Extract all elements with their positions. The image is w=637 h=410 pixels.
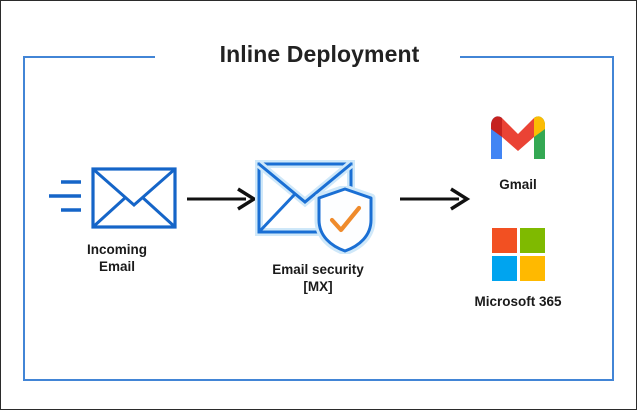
node-email-security: Email security [MX] [247,158,389,295]
node-email-security-label: Email security [MX] [247,261,389,295]
speed-lines-icon [47,175,91,219]
ms-square-bottom-left [492,256,517,281]
microsoft-logo-wrap [437,223,599,285]
microsoft-logo-icon [492,228,545,281]
ms-square-top-left [492,228,517,253]
shield-check-icon [313,186,377,254]
ms-square-bottom-right [520,256,545,281]
incoming-email-icon-wrap [41,163,193,233]
gmail-logo-wrap [453,106,583,168]
gmail-logo-icon [487,113,549,161]
node-gmail-label: Gmail [453,176,583,193]
node-gmail: Gmail [453,106,583,193]
ms-square-top-right [520,228,545,253]
envelope-outline-icon [91,167,177,229]
frame-bottom-edge [23,379,614,381]
frame-right-edge [612,56,614,381]
diagram-canvas: Inline Deployment Incoming Email [0,0,637,410]
email-security-icon-wrap [247,158,389,253]
diagram-title: Inline Deployment [1,41,637,68]
node-microsoft-365-label: Microsoft 365 [437,293,599,310]
node-incoming-email-label: Incoming Email [41,241,193,275]
node-incoming-email: Incoming Email [41,163,193,275]
node-microsoft-365: Microsoft 365 [437,223,599,310]
frame-left-edge [23,56,25,381]
